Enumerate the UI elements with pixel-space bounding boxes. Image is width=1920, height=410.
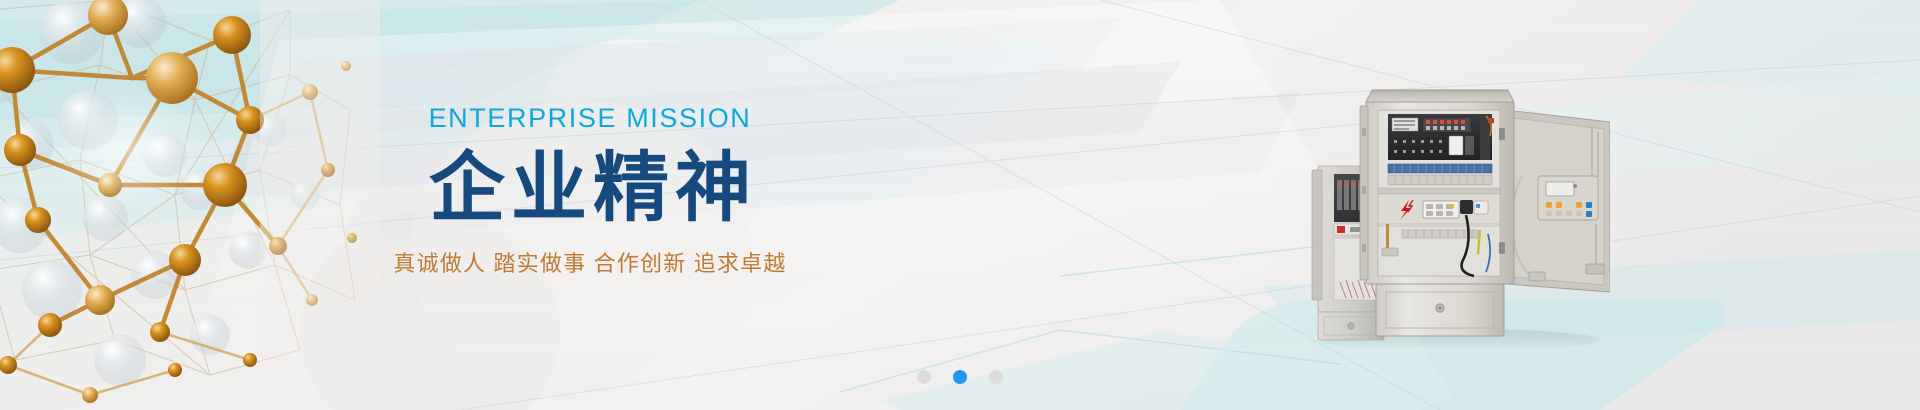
banner-subtitle: 真诚做人 踏实做事 合作创新 追求卓越 (393, 253, 786, 275)
banner-text-block: ENTERPRISE MISSION 企业精神 真诚做人 踏实做事 合作创新 追… (0, 0, 1000, 410)
carousel-pagination[interactable] (917, 370, 1003, 384)
page-title: 企业精神 (423, 146, 757, 231)
electrical-cabinet-product-photo (1310, 58, 1610, 348)
banner-eyebrow: ENTERPRISE MISSION (429, 105, 752, 132)
carousel-dot-2[interactable] (953, 370, 967, 384)
carousel-dot-1[interactable] (917, 370, 931, 384)
hero-banner: ENTERPRISE MISSION 企业精神 真诚做人 踏实做事 合作创新 追… (0, 0, 1920, 410)
carousel-dot-3[interactable] (989, 370, 1003, 384)
